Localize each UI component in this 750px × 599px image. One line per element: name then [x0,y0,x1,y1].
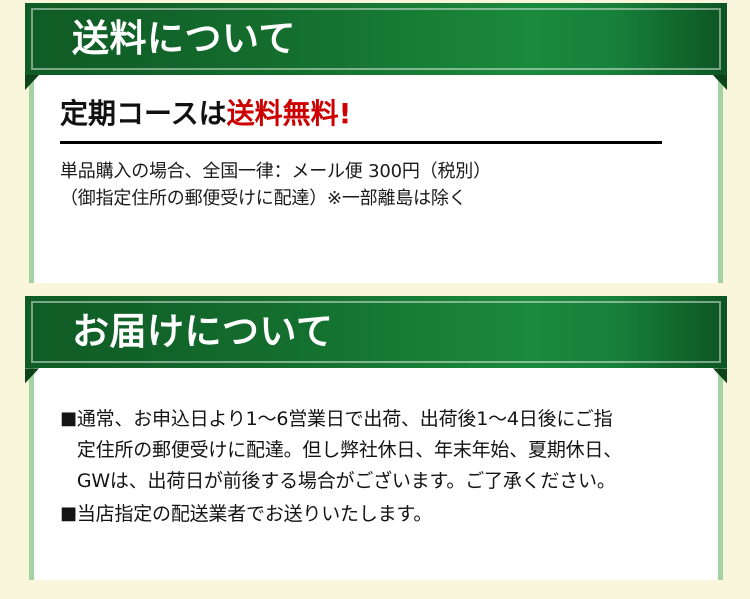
delivery-bullet-list: ■ 通常、お申込日より1〜6営業日で出荷、出荷後1〜4日後にご指 定住所の郵便受… [60,404,692,529]
delivery-panel: ■ 通常、お申込日より1〜6営業日で出荷、出荷後1〜4日後にご指 定住所の郵便受… [29,368,723,580]
section-delivery: お届けについて ■ 通常、お申込日より1〜6営業日で出荷、出荷後1〜4日後にご指… [0,296,750,580]
delivery-banner-title: お届けについて [72,313,333,350]
square-bullet-icon: ■ [60,499,77,530]
list-item-text: 通常、お申込日より1〜6営業日で出荷、出荷後1〜4日後にご指 定住所の郵便受けに… [77,404,692,496]
shipping-fee-panel: 定期コースは送料無料! 単品購入の場合、全国一律：メール便 300円（税別） （… [29,75,723,283]
delivery-bullet-1-line-1: 通常、お申込日より1〜6営業日で出荷、出荷後1〜4日後にご指 [77,404,692,435]
list-item-text: 当店指定の配送業者でお送りいたします。 [77,499,692,530]
delivery-banner: お届けについて [25,296,727,368]
headline-divider [60,141,662,144]
delivery-bullet-2-line-1: 当店指定の配送業者でお送りいたします。 [77,499,692,530]
shipping-fee-banner-title: 送料について [72,20,296,57]
panel-bottom-spacer [60,213,692,265]
shipping-fee-headline-highlight: 送料無料! [227,97,352,130]
delivery-bullet-1-line-2: 定住所の郵便受けに配達。但し弊社休日、年末年始、夏期休日、 [77,435,692,466]
square-bullet-icon: ■ [60,404,77,435]
list-item: ■ 当店指定の配送業者でお送りいたします。 [60,499,692,530]
shipping-fee-note-line-1: 単品購入の場合、全国一律：メール便 300円（税別） [60,158,692,186]
section-gap [0,283,750,296]
delivery-panel-content: ■ 通常、お申込日より1〜6営業日で出荷、出荷後1〜4日後にご指 定住所の郵便受… [34,368,718,549]
shipping-fee-banner: 送料について [25,3,727,75]
shipping-fee-headline: 定期コースは送料無料! [60,97,692,131]
list-item: ■ 通常、お申込日より1〜6営業日で出荷、出荷後1〜4日後にご指 定住所の郵便受… [60,404,692,496]
delivery-bullet-1-line-3: GWは、出荷日が前後する場合がございます。ご了承ください。 [77,466,692,497]
shipping-fee-note-line-2: （御指定住所の郵便受けに配達）※一部離島は除く [60,185,692,213]
shipping-fee-panel-content: 定期コースは送料無料! 単品購入の場合、全国一律：メール便 300円（税別） （… [34,75,718,283]
shipping-fee-headline-prefix: 定期コースは [60,97,227,130]
section-shipping-fee: 送料について 定期コースは送料無料! 単品購入の場合、全国一律：メール便 300… [0,3,750,283]
shipping-info-page: 送料について 定期コースは送料無料! 単品購入の場合、全国一律：メール便 300… [0,0,750,599]
